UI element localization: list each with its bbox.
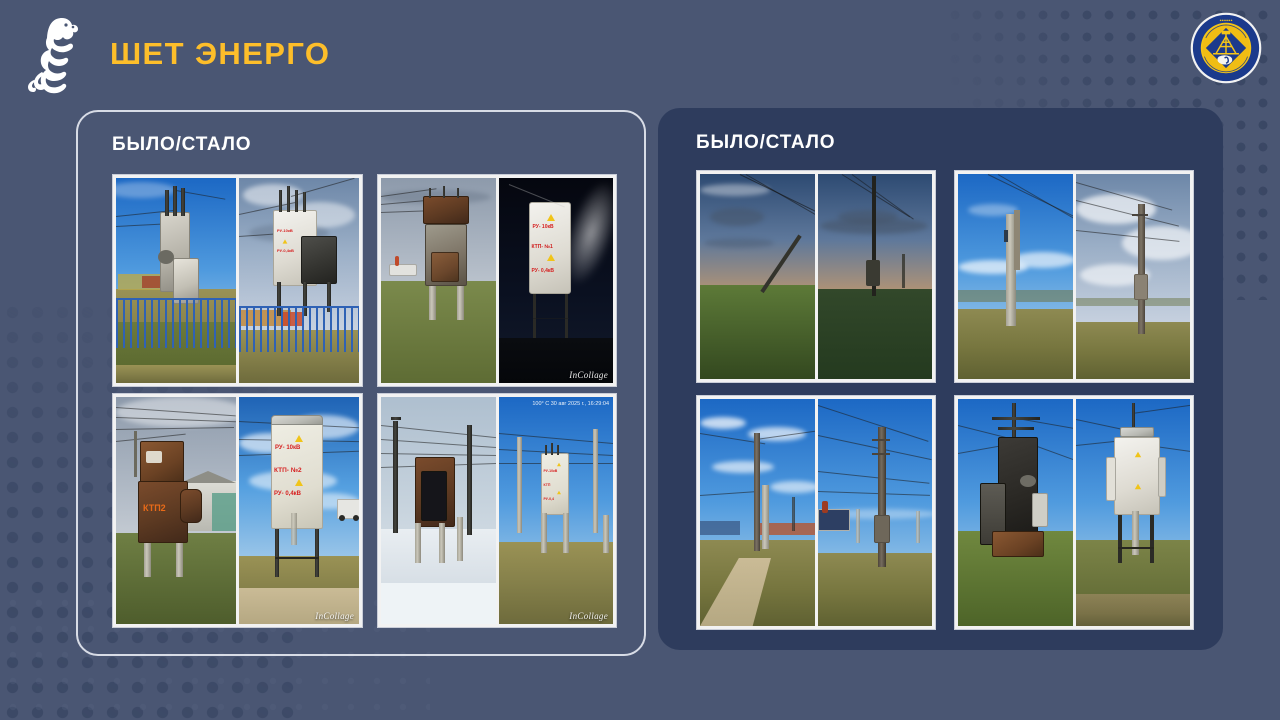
photo-after: РУ-10кВ КТП РУ-0,4 100° С 30 авг 2025 г.… (499, 397, 614, 624)
photo-before: КТП2 (116, 397, 236, 624)
photo-pair-pole-roadside[interactable] (696, 395, 936, 630)
card-right-title: БЫЛО/СТАЛО (696, 132, 835, 154)
presentation-slide: ШЕТ ЭНЕРГО ●●●●●● (0, 0, 1280, 720)
photo-grid-right (696, 170, 1196, 640)
photo-pair-ktp-1-night[interactable]: РУ- 10кВ КТП- №1 РУ- 0,4кВ InCollage (377, 174, 617, 387)
photo-before (958, 174, 1073, 379)
watermark-incollage: InCollage (569, 611, 608, 621)
photo-before (958, 399, 1073, 626)
photo-before (700, 399, 815, 626)
photo-before (700, 174, 815, 379)
photo-after: РУ- 10кВ КТП- №2 РУ- 0,4кВ InCollage (239, 397, 359, 624)
energy-company-emblem: ●●●●●● (1190, 12, 1262, 84)
watermark-incollage: InCollage (315, 611, 354, 621)
photo-after (1076, 174, 1191, 379)
photo-after (818, 399, 933, 626)
photo-after (1076, 399, 1191, 626)
photo-before (116, 178, 236, 383)
card-before-after-right: БЫЛО/СТАЛО (658, 108, 1223, 650)
slide-header: ШЕТ ЭНЕРГО ●●●●●● (0, 0, 1280, 104)
photo-after: РУ-10кВ РУ-0,4кВ (239, 178, 359, 383)
snow-leopard-barys-logo (22, 14, 88, 94)
photo-pair-ktp-fenced-substation[interactable]: РУ-10кВ РУ-0,4кВ (112, 174, 363, 387)
svg-text:●●●●●●: ●●●●●● (1219, 18, 1232, 22)
photo-before (381, 397, 496, 624)
page-title: ШЕТ ЭНЕРГО (110, 36, 330, 72)
photo-pair-ktp-winter-summer[interactable]: РУ-10кВ КТП РУ-0,4 100° С 30 авг 2025 г.… (377, 393, 617, 628)
photo-pair-ktp-2-daytime[interactable]: КТП2 РУ (112, 393, 363, 628)
photo-after: РУ- 10кВ КТП- №1 РУ- 0,4кВ InCollage (499, 178, 614, 383)
watermark-incollage: InCollage (569, 370, 608, 380)
card-left-title: БЫЛО/СТАЛО (112, 134, 251, 156)
photo-before (381, 178, 496, 383)
photo-grid-left: РУ-10кВ РУ-0,4кВ (112, 174, 617, 640)
photo-pair-pole-steppe[interactable] (954, 170, 1194, 383)
photo-pair-transformer-burnt[interactable] (954, 395, 1194, 630)
photo-after (818, 174, 933, 379)
card-before-after-left: БЫЛО/СТАЛО (76, 110, 646, 656)
photo-timestamp: 100° С 30 авг 2025 г., 16:29:04 (532, 400, 609, 408)
photo-pair-leaning-pole-sunset[interactable] (696, 170, 936, 383)
